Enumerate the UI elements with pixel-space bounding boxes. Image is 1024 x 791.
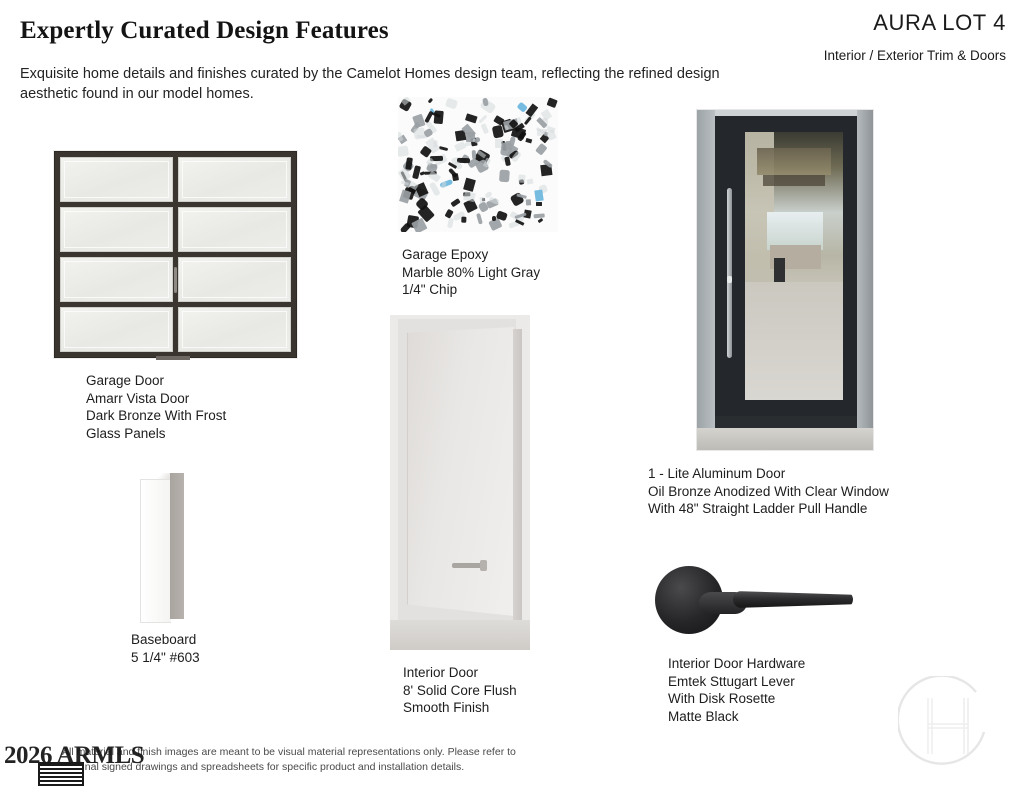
page-title: Expertly Curated Design Features — [20, 17, 389, 45]
garage-door-glass-panel — [60, 257, 173, 302]
epoxy-flake — [440, 182, 446, 189]
epoxy-flake — [472, 150, 477, 159]
epoxy-flake — [454, 142, 466, 153]
caption-interior-door-hardware: Interior Door Hardware Emtek Sttugart Le… — [668, 655, 805, 725]
epoxy-flake — [478, 114, 487, 123]
garage-door-glass-panel — [178, 157, 291, 202]
epoxy-flake — [492, 125, 504, 138]
garage-door-glass-panel — [60, 207, 173, 252]
epoxy-flake — [412, 165, 421, 179]
epoxy-flake — [428, 98, 434, 104]
epoxy-flake — [434, 111, 444, 125]
door-frame — [715, 116, 857, 416]
epoxy-flake — [463, 177, 476, 191]
caption-garage-epoxy: Garage Epoxy Marble 80% Light Gray 1/4" … — [402, 246, 540, 299]
epoxy-flake — [481, 123, 489, 134]
epoxy-flake — [546, 129, 557, 141]
epoxy-flake — [398, 145, 409, 157]
epoxy-flake — [399, 189, 411, 203]
garage-door-glass-panel — [178, 257, 291, 302]
epoxy-flake — [538, 218, 544, 224]
garage-door-row — [60, 157, 291, 202]
garage-door-glass-panel — [178, 207, 291, 252]
epoxy-flake — [463, 191, 476, 202]
garage-door-row — [60, 307, 291, 352]
epoxy-flake — [518, 174, 526, 182]
caption-baseboard: Baseboard 5 1/4" #603 — [131, 631, 200, 666]
epoxy-flake — [465, 113, 477, 123]
epoxy-flake — [461, 217, 467, 223]
epoxy-flake — [450, 198, 460, 207]
interior-floor — [390, 620, 530, 650]
caption-garage-door: Garage Door Amarr Vista Door Dark Bronze… — [86, 372, 226, 442]
exterior-ground — [697, 428, 873, 450]
epoxy-flake — [534, 189, 543, 201]
epoxy-flake — [527, 178, 534, 184]
epoxy-flake — [476, 213, 483, 224]
garage-door-row — [60, 207, 291, 252]
epoxy-flake — [499, 169, 510, 182]
garage-door-handle-icon — [174, 267, 177, 293]
door-lever-icon — [452, 563, 486, 568]
garage-door-photo — [54, 151, 297, 358]
garage-door-glass-panel — [60, 307, 173, 352]
epoxy-flake — [445, 97, 458, 109]
garage-door-bottom-bar — [156, 356, 190, 360]
door-slab — [407, 327, 514, 616]
garage-door-glass-panel — [178, 307, 291, 352]
interior-door-photo — [390, 315, 530, 650]
interior-floor — [745, 282, 843, 400]
epoxy-flake — [526, 198, 531, 205]
exterior-wall-right — [857, 110, 873, 450]
epoxy-flake — [547, 98, 558, 108]
epoxy-flake — [474, 136, 480, 142]
caption-aluminum-door: 1 - Lite Aluminum Door Oil Bronze Anodiz… — [648, 465, 889, 518]
epoxy-flake — [536, 202, 542, 206]
lever-bar — [733, 591, 853, 608]
epoxy-flake — [424, 110, 434, 123]
exterior-wall-left — [697, 110, 715, 450]
epoxy-chip-swatch — [398, 97, 558, 232]
epoxy-flake — [427, 171, 440, 183]
camelot-homes-logo-icon — [898, 676, 998, 776]
baseboard-face — [140, 479, 171, 623]
epoxy-flake — [447, 218, 454, 229]
baseboard-side — [170, 473, 184, 619]
door-edge — [513, 329, 522, 620]
armls-watermark-mark — [38, 762, 84, 786]
garage-door-glass-panel — [60, 157, 173, 202]
clear-glass-lite — [745, 132, 843, 400]
epoxy-flake — [433, 140, 437, 147]
door-lever-photo — [655, 562, 855, 640]
interior-ceiling — [757, 148, 831, 175]
epoxy-flake — [533, 213, 545, 218]
design-features-board: Expertly Curated Design Features Exquisi… — [0, 0, 1024, 791]
epoxy-flake — [526, 138, 533, 143]
epoxy-flake — [535, 142, 548, 155]
baseboard-profile-sample — [140, 473, 186, 625]
aluminum-entry-door-photo — [697, 110, 873, 450]
epoxy-flake — [406, 158, 413, 171]
ladder-pull-handle-icon — [727, 188, 732, 358]
caption-interior-door: Interior Door 8' Solid Core Flush Smooth… — [403, 664, 517, 717]
epoxy-flake — [429, 181, 441, 196]
lot-title: AURA LOT 4 — [873, 10, 1006, 36]
interior-beam — [763, 175, 826, 186]
epoxy-flake — [492, 216, 496, 221]
lot-subtitle: Interior / Exterior Trim & Doors — [824, 47, 1006, 64]
